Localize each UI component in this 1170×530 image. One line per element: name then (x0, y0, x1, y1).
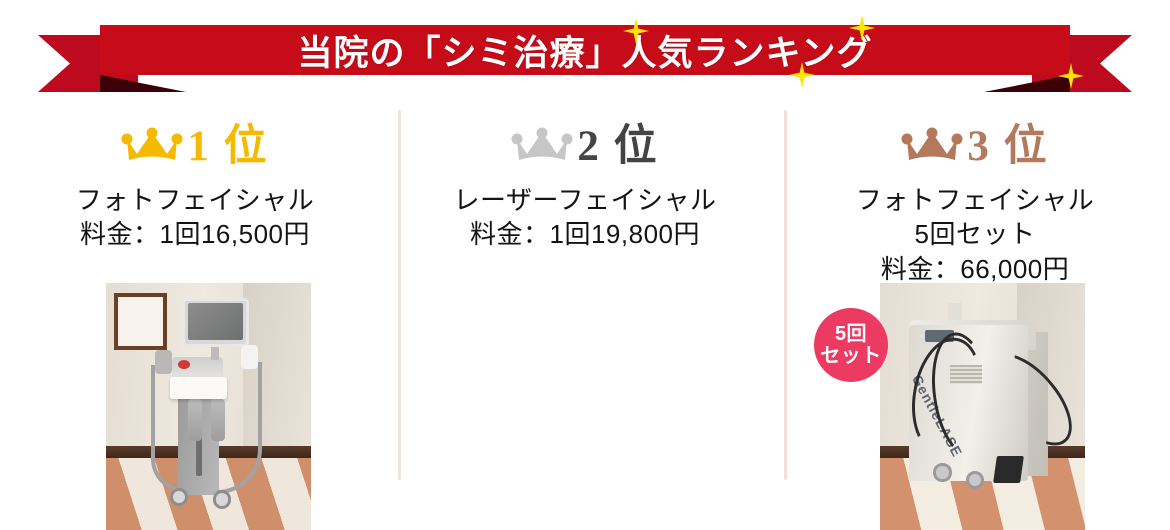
ribbon-fold-left (100, 75, 186, 92)
rank-2-label: 2 位 (577, 125, 658, 168)
crown-icon (121, 126, 183, 166)
badge-line-2: セット (820, 345, 882, 367)
rank-3-description: フォトフェイシャル 5回セット 料金：66,000円 (780, 183, 1170, 286)
rank-1-description: フォトフェイシャル 料金：1回16,500円 (0, 183, 390, 252)
five-session-set-badge: 5回 セット (814, 308, 888, 382)
ranking-banner: 当院の「シミ治療」人気ランキング (0, 0, 1170, 100)
crown-icon (511, 126, 573, 166)
rank-1-line-1: フォトフェイシャル (0, 183, 390, 217)
rank-1-header: 1 位 (0, 118, 390, 174)
column-divider (784, 110, 787, 480)
badge-line-1: 5回 (835, 323, 867, 345)
rank-3-label: 3 位 (967, 125, 1048, 168)
rank-1-line-2: 料金：1回16,500円 (0, 217, 390, 251)
rank-3-header: 3 位 (780, 118, 1170, 174)
rank-2-line-1: レーザーフェイシャル (390, 183, 780, 217)
banner-title: 当院の「シミ治療」人気ランキング (100, 25, 1070, 75)
rank-2-line-2: 料金：1回19,800円 (390, 217, 780, 251)
rank-3-line-1: フォトフェイシャル (780, 183, 1170, 217)
rank-3-line-3: 料金：66,000円 (780, 252, 1170, 286)
rank-3-line-2: 5回セット (780, 217, 1170, 251)
photofacial-machine-photo (106, 283, 311, 530)
crown-icon (901, 126, 963, 166)
column-divider (398, 110, 401, 480)
rank-2-description: レーザーフェイシャル 料金：1回19,800円 (390, 183, 780, 252)
rank-column-2: 2 位 レーザーフェイシャル 料金：1回19,800円 GentleLASE (390, 100, 780, 530)
rank-2-header: 2 位 (390, 118, 780, 174)
rank-1-label: 1 位 (187, 125, 268, 168)
ranking-columns: 1 位 フォトフェイシャル 料金：1回16,500円 (0, 100, 1170, 530)
rank-column-1: 1 位 フォトフェイシャル 料金：1回16,500円 (0, 100, 390, 530)
